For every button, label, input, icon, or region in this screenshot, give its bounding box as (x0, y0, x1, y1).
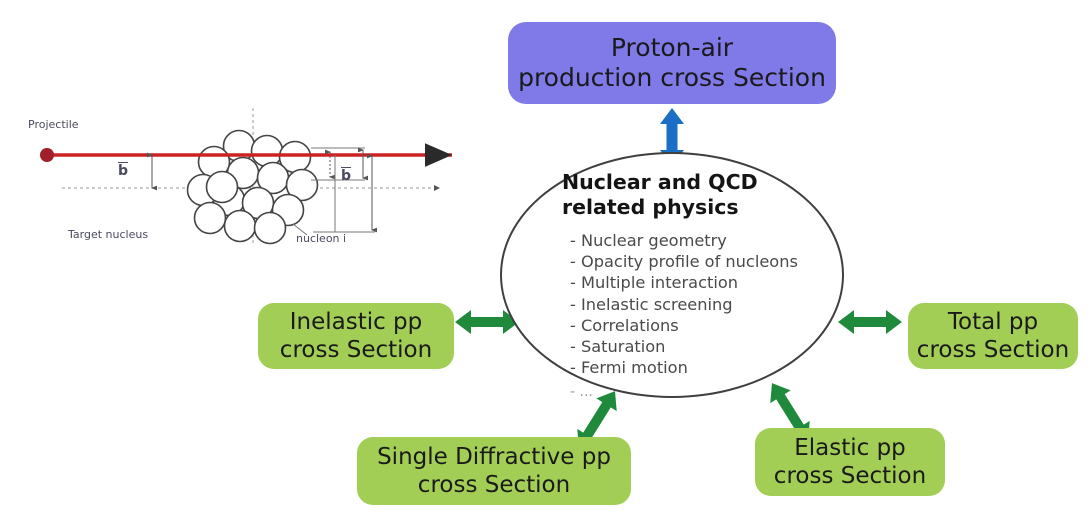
node-inelastic-pp-cross-section[interactable]: Inelastic pp cross Section (258, 303, 454, 369)
node-line: cross Section (258, 336, 454, 364)
target-nucleus-label: Target nucleus (68, 228, 148, 241)
node-total-pp-cross-section[interactable]: Total pp cross Section (908, 303, 1078, 369)
node-line: Inelastic pp (258, 308, 454, 336)
impact-parameter-label-2: b (341, 168, 351, 184)
node-line: Single Diffractive pp (357, 443, 631, 471)
node-line: cross Section (755, 462, 945, 490)
impact-parameter-label-1: b (118, 163, 128, 179)
node-line: Proton-air (508, 33, 836, 64)
nucleon-circle (255, 213, 286, 244)
node-line: production cross Section (508, 63, 836, 94)
projectile-dot (40, 148, 54, 162)
node-elastic-pp-cross-section[interactable]: Elastic pp cross Section (755, 428, 945, 496)
nucleon-i-label: nucleon i (296, 232, 346, 245)
node-single-diffractive-pp-cross-section[interactable]: Single Diffractive pp cross Section (357, 437, 631, 505)
node-nuclear-qcd-physics[interactable] (500, 152, 844, 398)
projectile-label: Projectile (28, 118, 79, 131)
nucleus-illustration (40, 108, 452, 245)
node-proton-air-production-cross-section[interactable]: Proton-air production cross Section (508, 22, 836, 104)
nucleon-circle (225, 211, 256, 242)
nucleon-circle (252, 136, 283, 167)
node-line: Total pp (908, 308, 1078, 336)
node-line: Elastic pp (755, 434, 945, 462)
node-line: cross Section (357, 471, 631, 499)
nucleon-circle (195, 203, 226, 234)
nucleon-circle (207, 172, 238, 203)
arrow-total-pp (838, 310, 902, 334)
diagram-canvas: Projectile Target nucleus nucleon i b b … (0, 0, 1092, 521)
node-line: cross Section (908, 336, 1078, 364)
